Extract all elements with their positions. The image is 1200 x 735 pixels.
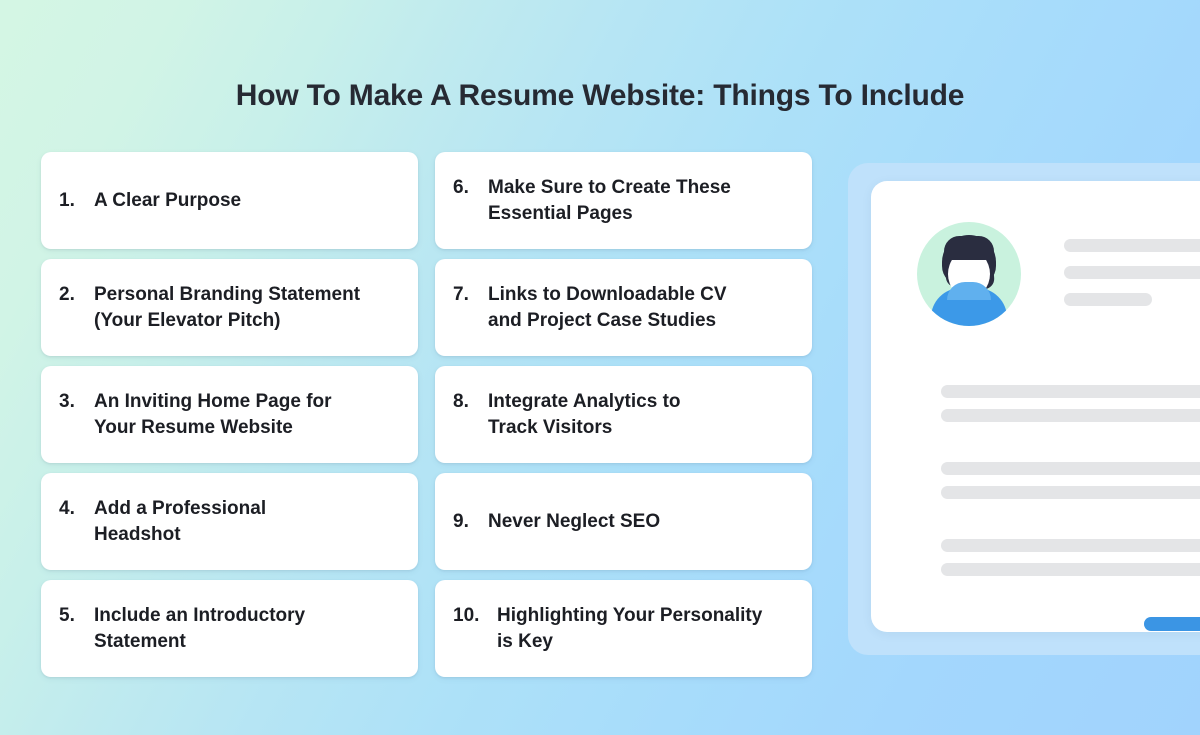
website-mockup-card (871, 181, 1200, 632)
avatar-fringe-icon (944, 236, 994, 260)
list-item[interactable]: 1. A Clear Purpose (41, 152, 418, 249)
list-item-number: 9. (453, 509, 483, 535)
list-item-label: Make Sure to Create These Essential Page… (483, 175, 796, 227)
list-item-row: 3. An Inviting Home Page for Your Resume… (59, 389, 402, 441)
list-item-row: 8. Integrate Analytics to Track Visitors (453, 389, 796, 441)
list-item-number: 3. (59, 389, 89, 415)
list-item-number: 6. (453, 175, 483, 201)
checklist-grid: 1. A Clear Purpose 6. Make Sure to Creat… (41, 152, 812, 677)
list-item-row: 6. Make Sure to Create These Essential P… (453, 175, 796, 227)
list-item-row: 4. Add a Professional Headshot (59, 496, 402, 548)
list-item-number: 8. (453, 389, 483, 415)
skeleton-heading-line (1064, 239, 1200, 252)
cta-button[interactable] (1144, 617, 1200, 631)
infographic-canvas: How To Make A Resume Website: Things To … (0, 0, 1200, 735)
list-item[interactable]: 2. Personal Branding Statement (Your Ele… (41, 259, 418, 356)
skeleton-text-line (941, 409, 1200, 422)
list-item-label: Integrate Analytics to Track Visitors (483, 389, 796, 441)
list-item-label: Personal Branding Statement (Your Elevat… (89, 282, 402, 334)
list-item-label: Add a Professional Headshot (89, 496, 402, 548)
list-item-row: 2. Personal Branding Statement (Your Ele… (59, 282, 402, 334)
list-item[interactable]: 6. Make Sure to Create These Essential P… (435, 152, 812, 249)
list-item-number: 5. (59, 603, 89, 629)
list-item-label: A Clear Purpose (89, 188, 402, 214)
list-item-label: Never Neglect SEO (483, 509, 796, 535)
list-item-label: Links to Downloadable CV and Project Cas… (483, 282, 796, 334)
skeleton-heading-line (1064, 293, 1152, 306)
page-title: How To Make A Resume Website: Things To … (0, 77, 1200, 115)
list-item-row: 5. Include an Introductory Statement (59, 603, 402, 655)
list-item[interactable]: 7. Links to Downloadable CV and Project … (435, 259, 812, 356)
list-item-row: 10. Highlighting Your Personality is Key (453, 603, 796, 655)
skeleton-text-line (941, 385, 1200, 398)
list-item[interactable]: 10. Highlighting Your Personality is Key (435, 580, 812, 677)
list-item[interactable]: 9. Never Neglect SEO (435, 473, 812, 570)
resume-website-illustration (848, 163, 1200, 655)
avatar (917, 222, 1021, 326)
list-item-number: 10. (453, 603, 492, 629)
list-item-number: 4. (59, 496, 89, 522)
skeleton-text-line (941, 462, 1200, 475)
list-item-label: An Inviting Home Page for Your Resume We… (89, 389, 402, 441)
list-item[interactable]: 5. Include an Introductory Statement (41, 580, 418, 677)
list-item-row: 9. Never Neglect SEO (453, 509, 796, 535)
list-item-number: 2. (59, 282, 89, 308)
list-item-number: 7. (453, 282, 483, 308)
skeleton-text-line (941, 539, 1200, 552)
list-item-label: Highlighting Your Personality is Key (492, 603, 796, 655)
skeleton-text-line (941, 563, 1200, 576)
skeleton-heading-line (1064, 266, 1200, 279)
list-item-row: 7. Links to Downloadable CV and Project … (453, 282, 796, 334)
list-item-row: 1. A Clear Purpose (59, 188, 402, 214)
skeleton-text-line (941, 486, 1200, 499)
list-item-number: 1. (59, 188, 89, 214)
list-item-label: Include an Introductory Statement (89, 603, 402, 655)
list-item[interactable]: 3. An Inviting Home Page for Your Resume… (41, 366, 418, 463)
list-item[interactable]: 8. Integrate Analytics to Track Visitors (435, 366, 812, 463)
list-item[interactable]: 4. Add a Professional Headshot (41, 473, 418, 570)
